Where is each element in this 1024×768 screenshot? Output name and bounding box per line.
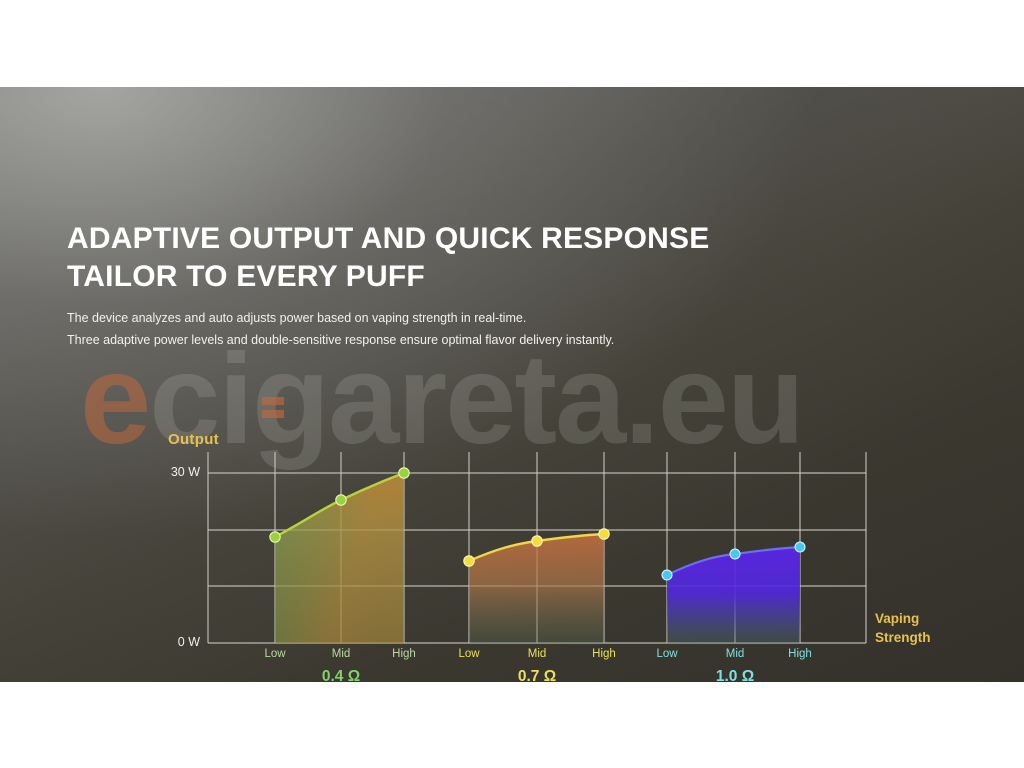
- series-0.7-ohm-point-high: [599, 529, 609, 539]
- x-axis-label-line-2: Strength: [875, 628, 985, 647]
- x-tick-g1-high: High: [374, 648, 434, 660]
- y-tick-30w: 30 W: [150, 465, 200, 479]
- series-0.4-ohm: [270, 468, 409, 643]
- series-0.4-ohm-point-low: [270, 532, 280, 542]
- group-label-0.7-ohm: 0.7 Ω: [462, 668, 612, 682]
- x-tick-g3-mid: Mid: [705, 648, 765, 660]
- series-0.7-ohm-point-low: [464, 556, 474, 566]
- x-tick-g2-high: High: [574, 648, 634, 660]
- x-tick-g3-high: High: [770, 648, 830, 660]
- series-0.7-ohm: [464, 529, 609, 643]
- content-band: ecigareta.eu ADAPTIVE OUTPUT AND QUICK R…: [0, 87, 1024, 682]
- series-1.0-ohm-point-mid: [730, 549, 740, 559]
- chart-svg: [0, 87, 1024, 682]
- y-tick-0w: 0 W: [150, 635, 200, 649]
- x-tick-g3-low: Low: [637, 648, 697, 660]
- series-0.4-ohm-point-high: [399, 468, 409, 478]
- series-0.7-ohm-area: [469, 534, 604, 643]
- x-axis-label-line-1: Vaping: [875, 609, 985, 628]
- group-label-0.4-ohm: 0.4 Ω: [266, 668, 416, 682]
- series-1.0-ohm-area: [667, 547, 800, 643]
- group-label-1.0-ohm: 1.0 Ω: [660, 668, 810, 682]
- series-1.0-ohm-point-low: [662, 570, 672, 580]
- series-0.7-ohm-point-mid: [532, 536, 542, 546]
- series-1.0-ohm-point-high: [795, 542, 805, 552]
- x-tick-g2-mid: Mid: [507, 648, 567, 660]
- y-axis-label: Output: [168, 431, 219, 448]
- x-tick-g1-low: Low: [245, 648, 305, 660]
- slide-canvas: ecigareta.eu ADAPTIVE OUTPUT AND QUICK R…: [0, 0, 1024, 768]
- x-tick-g2-low: Low: [439, 648, 499, 660]
- output-response-chart: Output 30 W 0 W Vaping Strength Low Mid …: [0, 87, 1024, 682]
- x-tick-g1-mid: Mid: [311, 648, 371, 660]
- x-axis-label: Vaping Strength: [875, 609, 985, 647]
- series-1.0-ohm: [662, 542, 805, 643]
- series-0.4-ohm-point-mid: [336, 495, 346, 505]
